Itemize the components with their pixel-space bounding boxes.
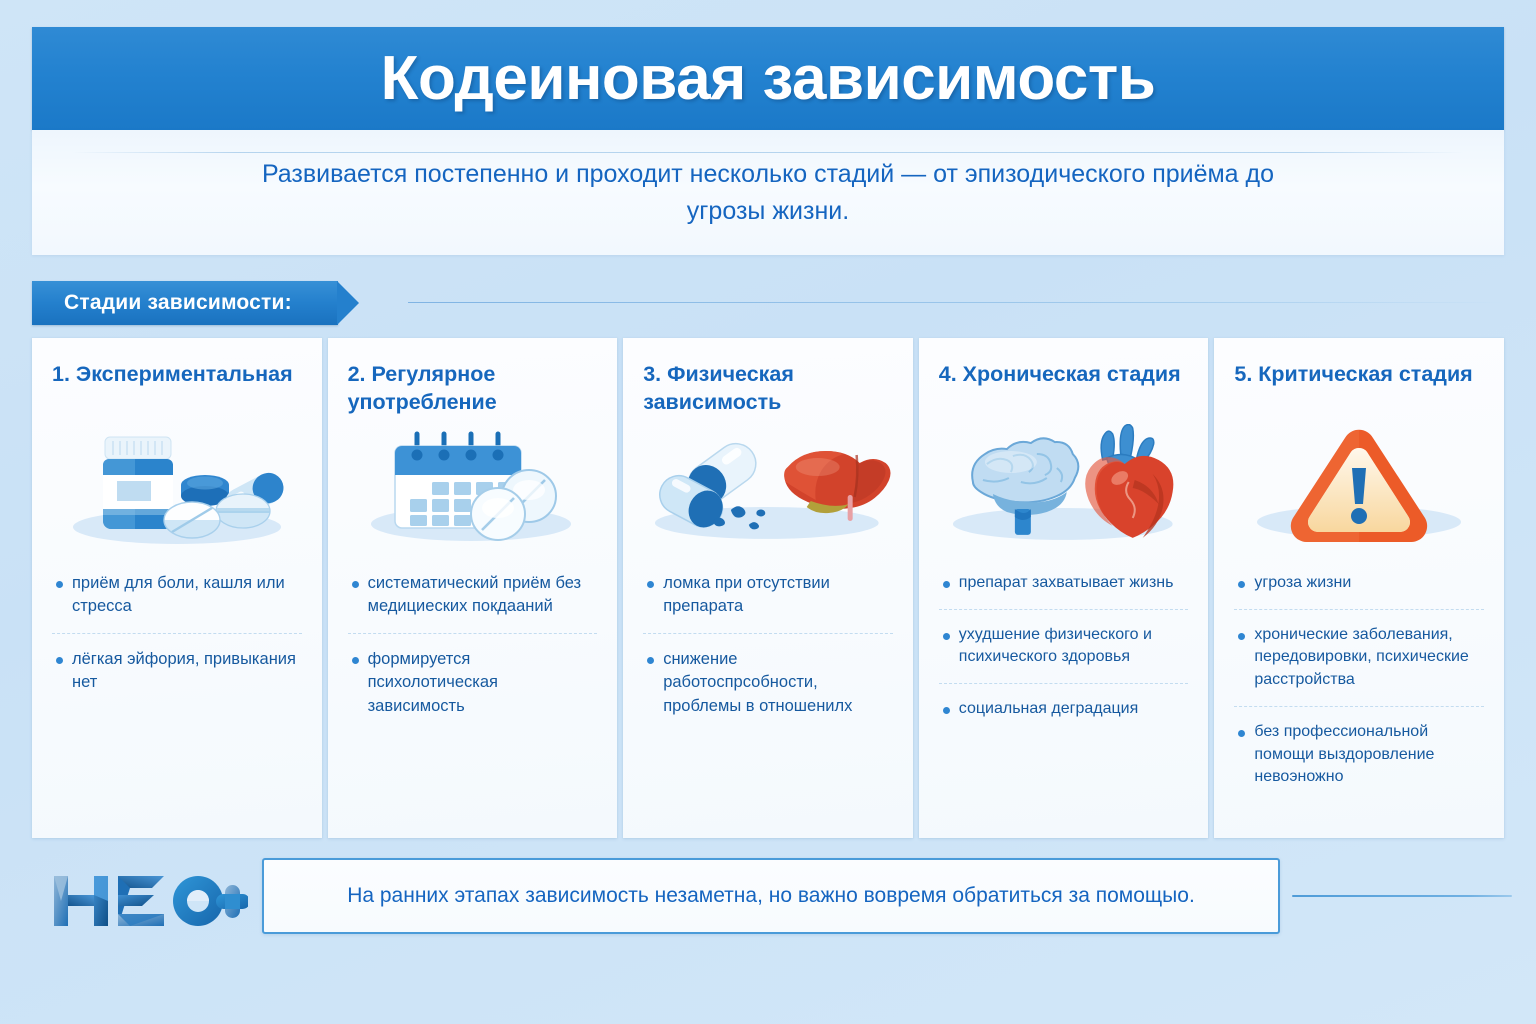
stage-card-3[interactable]: 3. Физическая зависимость bbox=[623, 338, 913, 838]
footer-note-box: На ранних этапах зависимость незаметна, … bbox=[262, 858, 1280, 934]
bullet-dot-icon bbox=[1238, 581, 1245, 588]
stages-ribbon-label: Стадии зависимости: bbox=[64, 291, 292, 315]
bullet-text: снижение работоспрсобности, проблемы в о… bbox=[663, 648, 891, 718]
bullet-dot-icon bbox=[943, 633, 950, 640]
stages-ribbon: Стадии зависимости: bbox=[32, 281, 338, 325]
list-item: угроза жизни bbox=[1234, 558, 1484, 609]
stage-card-title: 3. Физическая зависимость bbox=[643, 360, 893, 418]
subtitle-divider bbox=[72, 152, 1464, 153]
stage-card-1[interactable]: 1. Экспериментальная bbox=[32, 338, 322, 838]
bullet-dot-icon bbox=[352, 657, 359, 664]
warning-triangle-icon bbox=[1234, 422, 1484, 550]
footer-note-text: На ранних этапах зависимость незаметна, … bbox=[321, 884, 1221, 908]
stage-card-bullets: ломка при отсутствии препарата снижение … bbox=[643, 558, 893, 732]
list-item: социальная деградация bbox=[939, 684, 1189, 735]
stage-card-bullets: препарат захватывает жизнь ухудшение физ… bbox=[939, 558, 1189, 735]
bullet-text: социальная деградация bbox=[959, 698, 1138, 721]
footer: На ранних этапах зависимость незаметна, … bbox=[0, 846, 1536, 976]
capsule-liver-icon bbox=[643, 422, 893, 550]
stage-card-2[interactable]: 2. Регулярное употребление bbox=[328, 338, 618, 838]
bullet-dot-icon bbox=[943, 707, 950, 714]
footer-decorative-line bbox=[1292, 895, 1512, 897]
bullet-text: ломка при отсутствии препарата bbox=[663, 572, 891, 619]
bullet-dot-icon bbox=[56, 581, 63, 588]
list-item: ухудшение физического и психического здо… bbox=[939, 610, 1189, 683]
list-item: хронические заболевания, передовировки, … bbox=[1234, 610, 1484, 706]
bullet-text: приём для боли, кашля или стресса bbox=[72, 572, 300, 619]
neo-plus-logo bbox=[48, 868, 248, 934]
stages-card-row: 1. Экспериментальная bbox=[32, 338, 1504, 838]
bullet-text: хронические заболевания, передовировки, … bbox=[1254, 624, 1482, 692]
stage-card-title: 1. Экспериментальная bbox=[52, 360, 302, 418]
bullet-dot-icon bbox=[647, 581, 654, 588]
stage-card-4[interactable]: 4. Хроническая стадия bbox=[919, 338, 1209, 838]
header-band: Кодеиновая зависимость bbox=[32, 27, 1504, 130]
stage-card-title: 2. Регулярное употребление bbox=[348, 360, 598, 418]
stage-card-5[interactable]: 5. Критическая стадия bbox=[1214, 338, 1504, 838]
bullet-text: систематический приём без медициеских по… bbox=[368, 572, 596, 619]
pill-bottle-icon bbox=[52, 422, 302, 550]
bullet-text: лёгкая эйфория, привыкания нет bbox=[72, 648, 300, 695]
bullet-text: угроза жизни bbox=[1254, 572, 1351, 595]
list-item: без профессиональной помощи выздоровлени… bbox=[1234, 707, 1484, 803]
ribbon-trailing-line bbox=[408, 302, 1504, 303]
list-item: препарат захватывает жизнь bbox=[939, 558, 1189, 609]
page-title: Кодеиновая зависимость bbox=[381, 43, 1156, 114]
bullet-text: формируется психолотическая зависимость bbox=[368, 648, 596, 718]
list-item: снижение работоспрсобности, проблемы в о… bbox=[643, 634, 893, 732]
list-item: формируется психолотическая зависимость bbox=[348, 634, 598, 732]
stage-card-title: 4. Хроническая стадия bbox=[939, 360, 1189, 418]
bullet-dot-icon bbox=[352, 581, 359, 588]
stage-card-bullets: приём для боли, кашля или стресса лёгкая… bbox=[52, 558, 302, 709]
bullet-text: ухудшение физического и психического здо… bbox=[959, 624, 1187, 669]
calendar-pills-icon bbox=[348, 422, 598, 550]
bullet-text: препарат захватывает жизнь bbox=[959, 572, 1174, 595]
bullet-dot-icon bbox=[647, 657, 654, 664]
subtitle-text: Развивается постепенно и проходит нескол… bbox=[248, 156, 1288, 230]
subtitle-panel: Развивается постепенно и проходит нескол… bbox=[32, 130, 1504, 255]
stages-ribbon-body: Стадии зависимости: bbox=[32, 281, 338, 325]
list-item: ломка при отсутствии препарата bbox=[643, 558, 893, 633]
bullet-dot-icon bbox=[56, 657, 63, 664]
list-item: приём для боли, кашля или стресса bbox=[52, 558, 302, 633]
bullet-dot-icon bbox=[1238, 730, 1245, 737]
bullet-text: без профессиональной помощи выздоровлени… bbox=[1254, 721, 1482, 789]
stage-card-bullets: угроза жизни хронические заболевания, пе… bbox=[1234, 558, 1484, 803]
stage-card-bullets: систематический приём без медициеских по… bbox=[348, 558, 598, 732]
brain-heart-icon bbox=[939, 422, 1189, 550]
list-item: лёгкая эйфория, привыкания нет bbox=[52, 634, 302, 709]
bullet-dot-icon bbox=[943, 581, 950, 588]
bullet-dot-icon bbox=[1238, 633, 1245, 640]
stage-card-title: 5. Критическая стадия bbox=[1234, 360, 1484, 418]
list-item: систематический приём без медициеских по… bbox=[348, 558, 598, 633]
